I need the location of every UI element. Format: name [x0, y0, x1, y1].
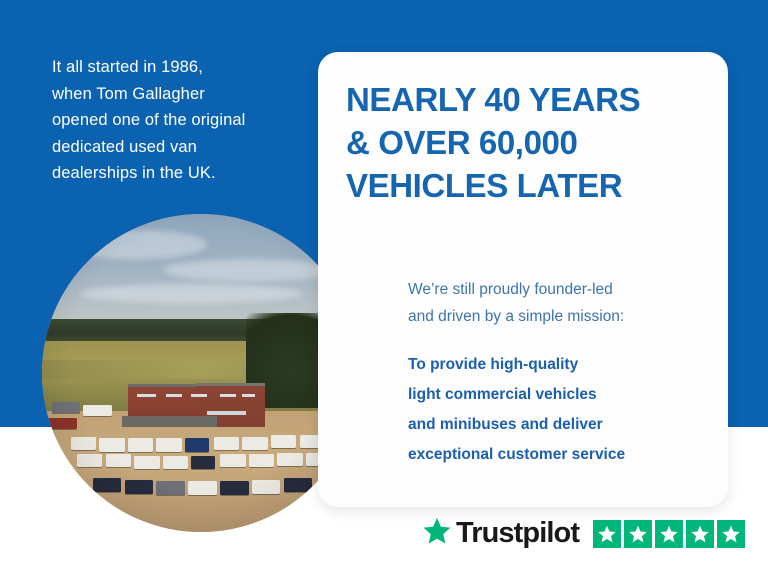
trustpilot-rating[interactable]: Trustpilot	[422, 516, 745, 551]
mission-line-2: light commercial vehicles	[408, 380, 713, 410]
headline-line-3: VEHICLES LATER	[346, 164, 708, 207]
mission-line-1: To provide high-quality	[408, 350, 713, 380]
story-line-2: when Tom Gallagher	[52, 81, 310, 108]
headline-line-1: NEARLY 40 YEARS	[346, 78, 708, 121]
rating-star-3	[655, 520, 683, 548]
trustpilot-star-icon	[422, 516, 452, 551]
story-line-4: dedicated used van	[52, 134, 310, 161]
rating-star-4	[686, 520, 714, 548]
story-line-3: opened one of the original	[52, 107, 310, 134]
lead-line-1: We’re still proudly founder-led	[408, 276, 708, 303]
lead-line-2: and driven by a simple mission:	[408, 303, 708, 330]
card-lead-text: We’re still proudly founder-led and driv…	[408, 276, 708, 330]
trustpilot-wordmark: Trustpilot	[456, 519, 579, 548]
rating-star-5	[717, 520, 745, 548]
story-line-5: dealerships in the UK.	[52, 160, 310, 187]
photo-vignette	[42, 214, 360, 532]
dealership-photo	[42, 214, 360, 532]
rating-star-1	[593, 520, 621, 548]
promo-graphic: It all started in 1986, when Tom Gallagh…	[0, 0, 768, 576]
trustpilot-logo[interactable]: Trustpilot	[422, 516, 579, 551]
trustpilot-star-rating[interactable]	[593, 520, 745, 548]
card-headline: NEARLY 40 YEARS & OVER 60,000 VEHICLES L…	[346, 78, 708, 207]
message-card: NEARLY 40 YEARS & OVER 60,000 VEHICLES L…	[318, 52, 728, 507]
headline-line-2: & OVER 60,000	[346, 121, 708, 164]
rating-star-2	[624, 520, 652, 548]
brand-story-text: It all started in 1986, when Tom Gallagh…	[52, 54, 310, 187]
mission-line-4: exceptional customer service	[408, 440, 713, 470]
mission-line-3: and minibuses and deliver	[408, 410, 713, 440]
story-line-1: It all started in 1986,	[52, 54, 310, 81]
mission-statement: To provide high-quality light commercial…	[408, 350, 713, 470]
